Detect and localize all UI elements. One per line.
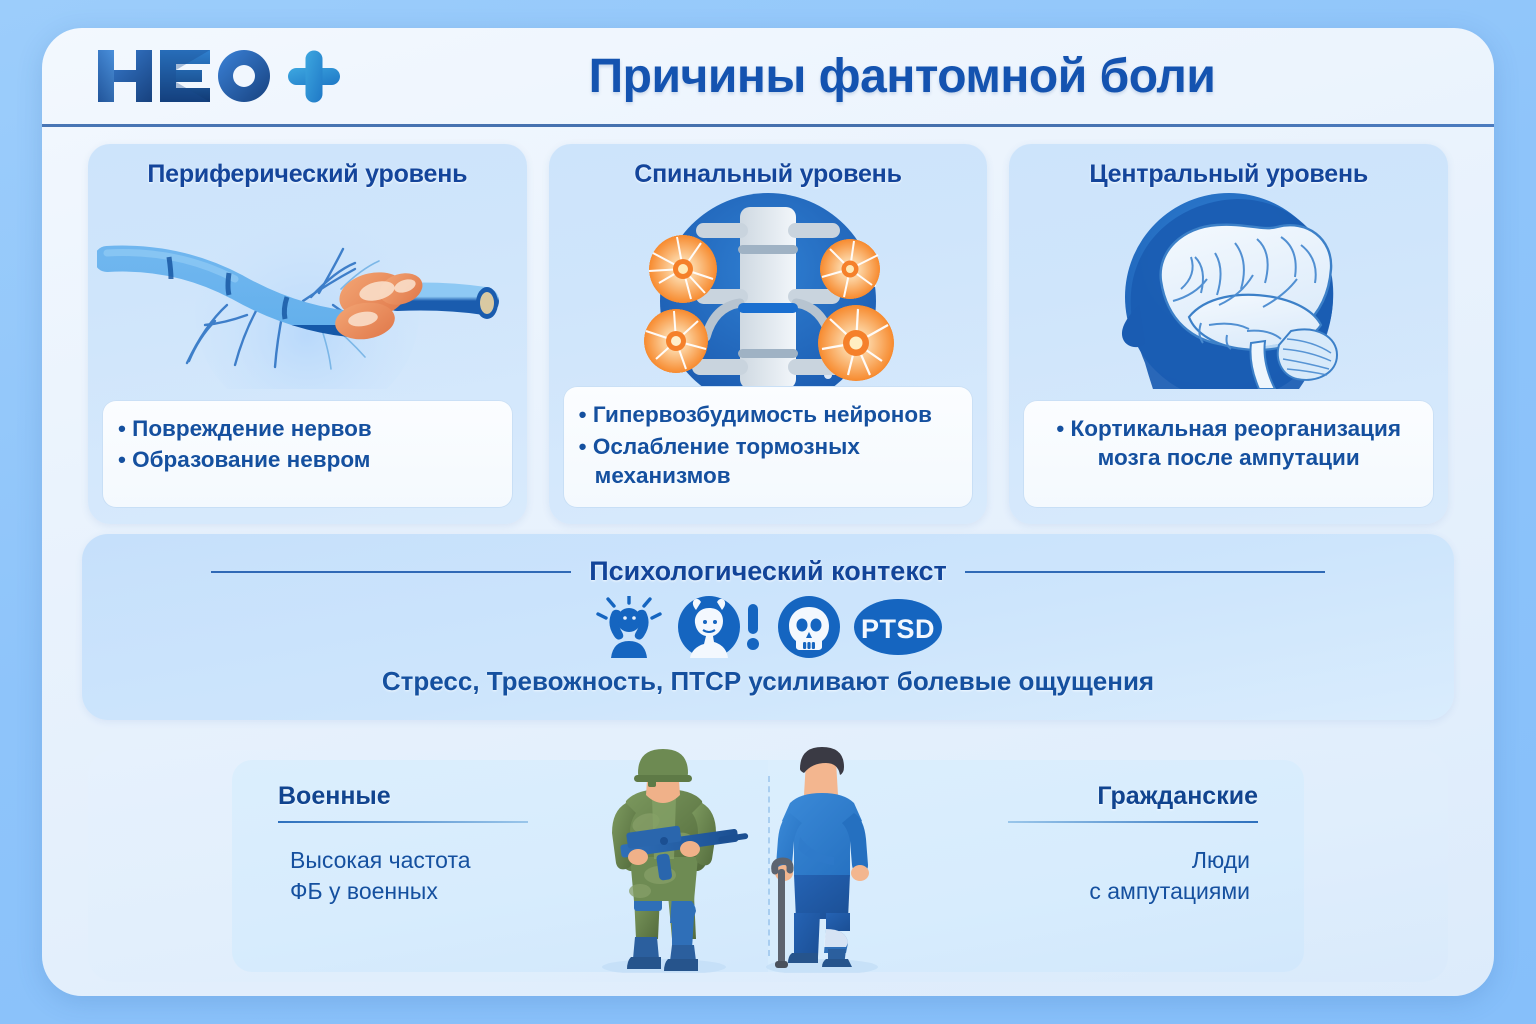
header-divider [42, 124, 1494, 127]
infographic-stage: Причины фантомной боли Периферический ур… [0, 0, 1536, 1024]
groups-divider [768, 776, 770, 956]
brain-in-head-silhouette-illustration [1009, 193, 1448, 389]
psych-heading-row: Психологический контекст [82, 556, 1454, 587]
groups-inner: Военные Высокая частота ФБ у военных [232, 760, 1304, 972]
card-central-level[interactable]: Центральный уровень [1009, 144, 1448, 524]
group-title: Военные [278, 782, 528, 811]
psychological-context-section: Психологический контекст [82, 534, 1454, 720]
anxious-person-exclamation-icon[interactable] [678, 596, 764, 663]
psych-icon-row: PTSD [82, 596, 1454, 663]
group-description-line-1: Высокая частота [290, 845, 528, 876]
list-item: Повреждение нервов [118, 414, 497, 443]
card-bullet-list: Кортикальная реорганизация мозга после а… [1023, 400, 1434, 508]
card-title: Периферический уровень [147, 160, 467, 189]
page-title: Причины фантомной боли [372, 34, 1432, 118]
group-military[interactable]: Военные Высокая частота ФБ у военных [232, 760, 768, 972]
group-title: Гражданские [1008, 782, 1258, 811]
psych-caption: Стресс, Тревожность, ПТСР усиливают боле… [82, 666, 1454, 697]
group-civilian[interactable]: Гражданские Люди с ампутациями [768, 760, 1304, 972]
main-panel: Причины фантомной боли Периферический ур… [42, 28, 1494, 996]
levels-card-group: Периферический уровень [88, 144, 1448, 524]
group-description: Люди с ампутациями [1008, 845, 1258, 907]
ptsd-badge-icon[interactable]: PTSD [854, 596, 942, 663]
soldier-with-prosthetic-leg-figure [568, 745, 758, 978]
group-description-line-2: ФБ у военных [290, 876, 528, 907]
group-description: Высокая частота ФБ у военных [278, 845, 528, 907]
card-title: Спинальный уровень [634, 160, 901, 189]
affected-groups-section: Военные Высокая частота ФБ у военных [88, 750, 1448, 982]
heading-rule-left [211, 571, 571, 573]
list-item: Гипервозбудимость нейронов [579, 400, 958, 429]
psych-heading: Психологический контекст [589, 556, 946, 587]
svg-text:PTSD: PTSD [861, 614, 935, 644]
spinal-cord-hyperactive-neurons-illustration [549, 193, 988, 389]
skull-icon[interactable] [778, 596, 840, 663]
group-underline [278, 821, 528, 823]
heading-rule-right [965, 571, 1325, 573]
header: Причины фантомной боли [42, 28, 1494, 120]
group-description-line-2: с ампутациями [1008, 876, 1250, 907]
group-underline [1008, 821, 1258, 823]
stressed-person-icon[interactable] [594, 596, 664, 663]
civilian-with-cane-and-prosthetic-leg-figure [734, 745, 904, 978]
group-text-block: Гражданские Люди с ампутациями [1008, 782, 1258, 907]
card-title: Центральный уровень [1089, 160, 1368, 189]
list-item: Образование невром [118, 445, 497, 474]
card-bullet-list: Повреждение нервов Образование невром [102, 400, 513, 508]
damaged-nerve-neuroma-illustration [88, 193, 527, 389]
group-text-block: Военные Высокая частота ФБ у военных [278, 782, 528, 907]
list-item: Кортикальная реорганизация мозга после а… [1039, 414, 1418, 473]
neo-plus-logo [92, 42, 352, 108]
card-bullet-list: Гипервозбудимость нейронов Ослабление то… [563, 386, 974, 508]
card-spinal-level[interactable]: Спинальный уровень [549, 144, 988, 524]
card-peripheral-level[interactable]: Периферический уровень [88, 144, 527, 524]
group-description-line-1: Люди [1008, 845, 1250, 876]
list-item: Ослабление тормозных механизмов [579, 432, 958, 491]
